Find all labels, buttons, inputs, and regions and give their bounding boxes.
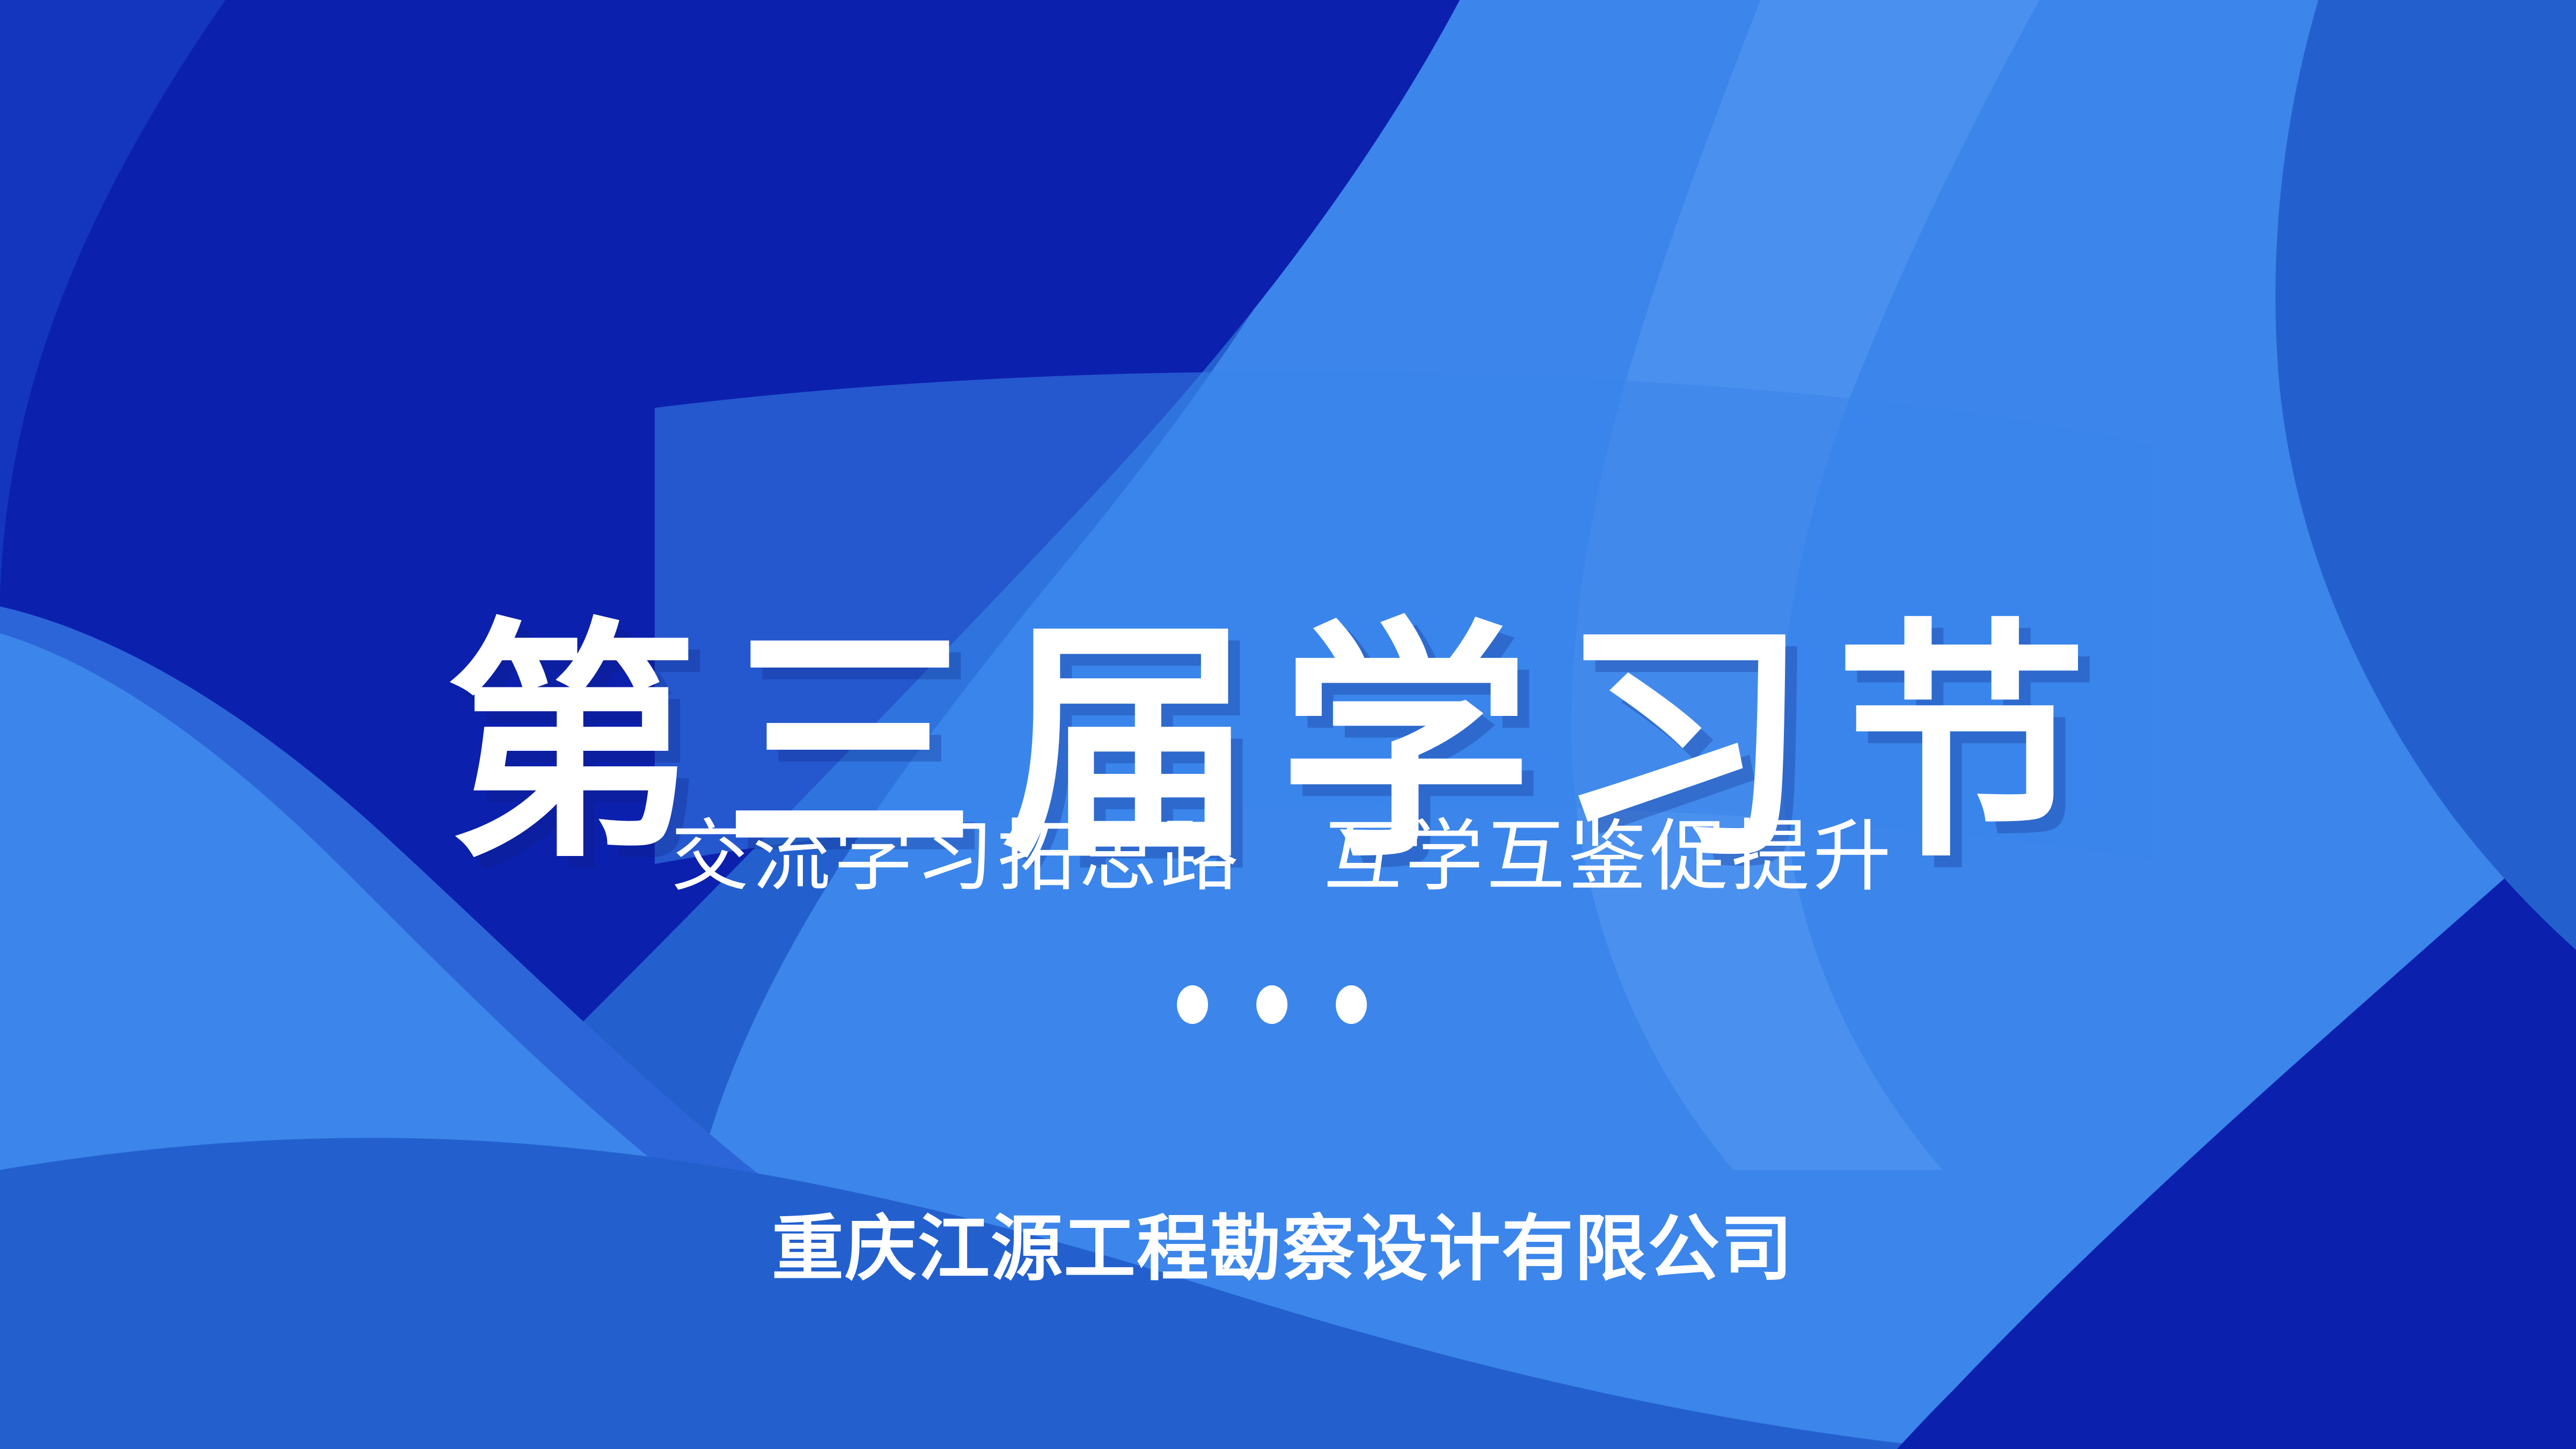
dot-icon-1 bbox=[1177, 985, 1208, 1024]
dot-icon-2 bbox=[1256, 985, 1287, 1024]
company-name: 重庆江源工程勘察设计有限公司 bbox=[0, 1206, 2571, 1293]
dot-separator bbox=[0, 985, 2560, 1024]
poster-subtitle: 交流学习拓思路 互学互鉴促提升 bbox=[0, 809, 2571, 903]
dot-icon-3 bbox=[1336, 985, 1367, 1024]
poster-content: 第三届学习节 交流学习拓思路 互学互鉴促提升 重庆江源工程勘察设计有限公司 bbox=[0, 0, 2576, 1449]
poster-canvas: 第三届学习节 交流学习拓思路 互学互鉴促提升 重庆江源工程勘察设计有限公司 bbox=[0, 0, 2576, 1449]
